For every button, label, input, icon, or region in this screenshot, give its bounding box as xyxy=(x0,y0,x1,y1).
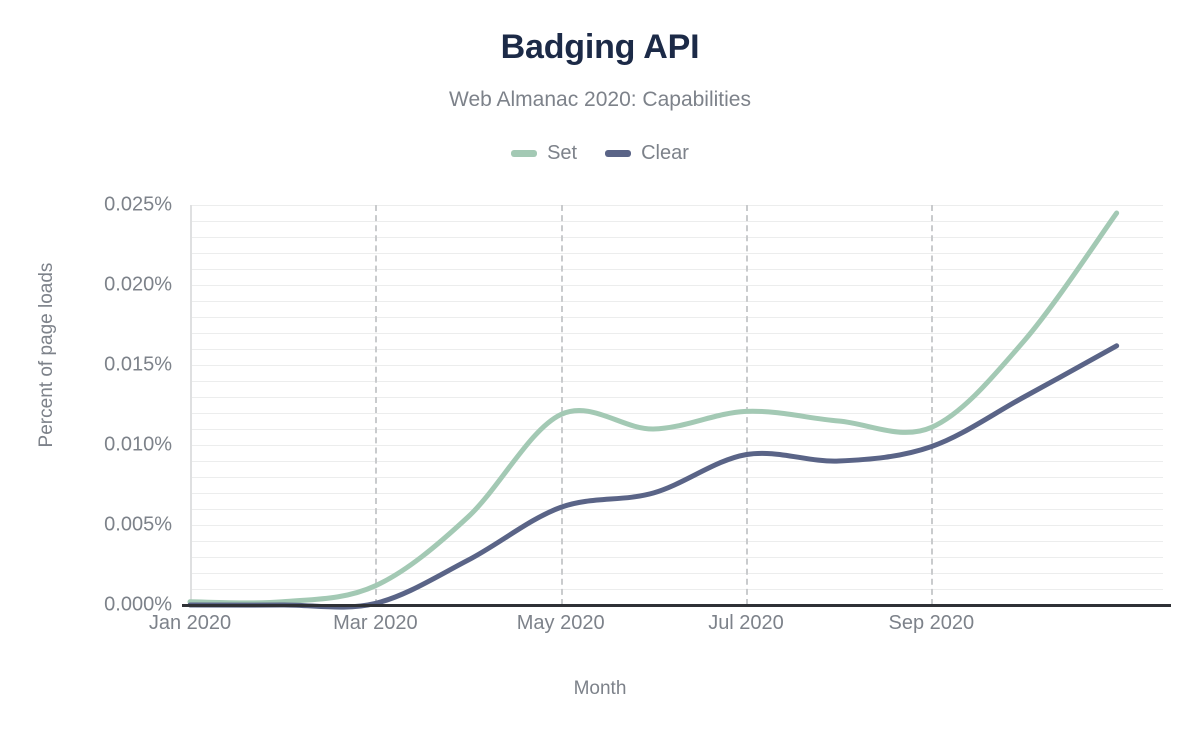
series-line-set xyxy=(190,213,1117,603)
y-axis-tick-label: 0.025% xyxy=(62,194,172,217)
chart-subtitle: Web Almanac 2020: Capabilities xyxy=(0,88,1200,112)
y-axis-ticks: 0.000%0.005%0.010%0.015%0.020%0.025% xyxy=(62,205,172,605)
chart-legend: SetClear xyxy=(0,142,1200,165)
y-axis-tick-label: 0.010% xyxy=(62,434,172,457)
plot-area xyxy=(190,205,1163,605)
x-axis-tick-label: Mar 2020 xyxy=(333,612,418,635)
y-axis-tick-label: 0.015% xyxy=(62,354,172,377)
x-axis-tick-label: Sep 2020 xyxy=(889,612,975,635)
chart-container: Badging API Web Almanac 2020: Capabiliti… xyxy=(0,0,1200,742)
y-axis-tick-label: 0.005% xyxy=(62,514,172,537)
chart-title: Badging API xyxy=(0,28,1200,67)
x-axis-title: Month xyxy=(0,678,1200,700)
x-axis-tick-label: May 2020 xyxy=(517,612,605,635)
legend-item-set[interactable]: Set xyxy=(511,142,577,165)
legend-swatch-icon xyxy=(605,150,631,157)
y-axis-title: Percent of page loads xyxy=(36,245,58,465)
series-line-clear xyxy=(190,346,1117,607)
y-axis-tick-label: 0.020% xyxy=(62,274,172,297)
x-axis-line xyxy=(182,604,1171,607)
legend-swatch-icon xyxy=(511,150,537,157)
x-axis-tick-label: Jan 2020 xyxy=(149,612,231,635)
legend-item-clear[interactable]: Clear xyxy=(605,142,689,165)
x-axis-tick-label: Jul 2020 xyxy=(708,612,784,635)
legend-label: Set xyxy=(547,142,577,165)
series-lines xyxy=(190,205,1163,605)
legend-label: Clear xyxy=(641,142,689,165)
